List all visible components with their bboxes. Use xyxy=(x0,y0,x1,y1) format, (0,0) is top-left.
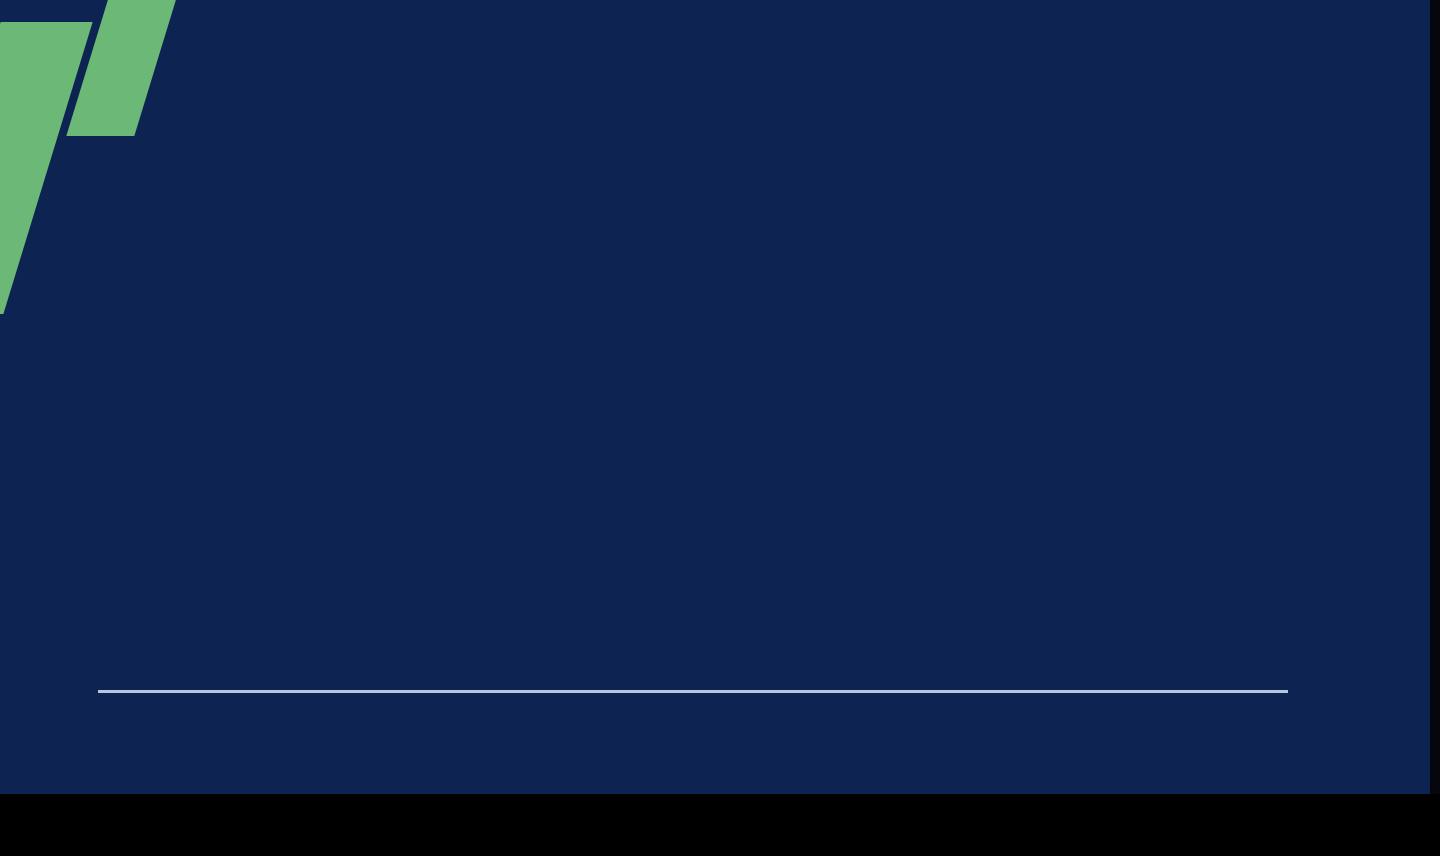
logo-parallelogram-large xyxy=(0,22,93,314)
slide-panel xyxy=(0,0,1440,794)
slide-right-letterbox xyxy=(1430,0,1440,794)
caption-bar xyxy=(0,794,1440,856)
logo-parallelogram-small xyxy=(66,0,177,136)
chart-plot-svg xyxy=(98,280,1288,691)
x-axis-baseline xyxy=(98,690,1288,693)
screenshot-stage xyxy=(0,0,1440,856)
line-chart xyxy=(98,280,1288,691)
